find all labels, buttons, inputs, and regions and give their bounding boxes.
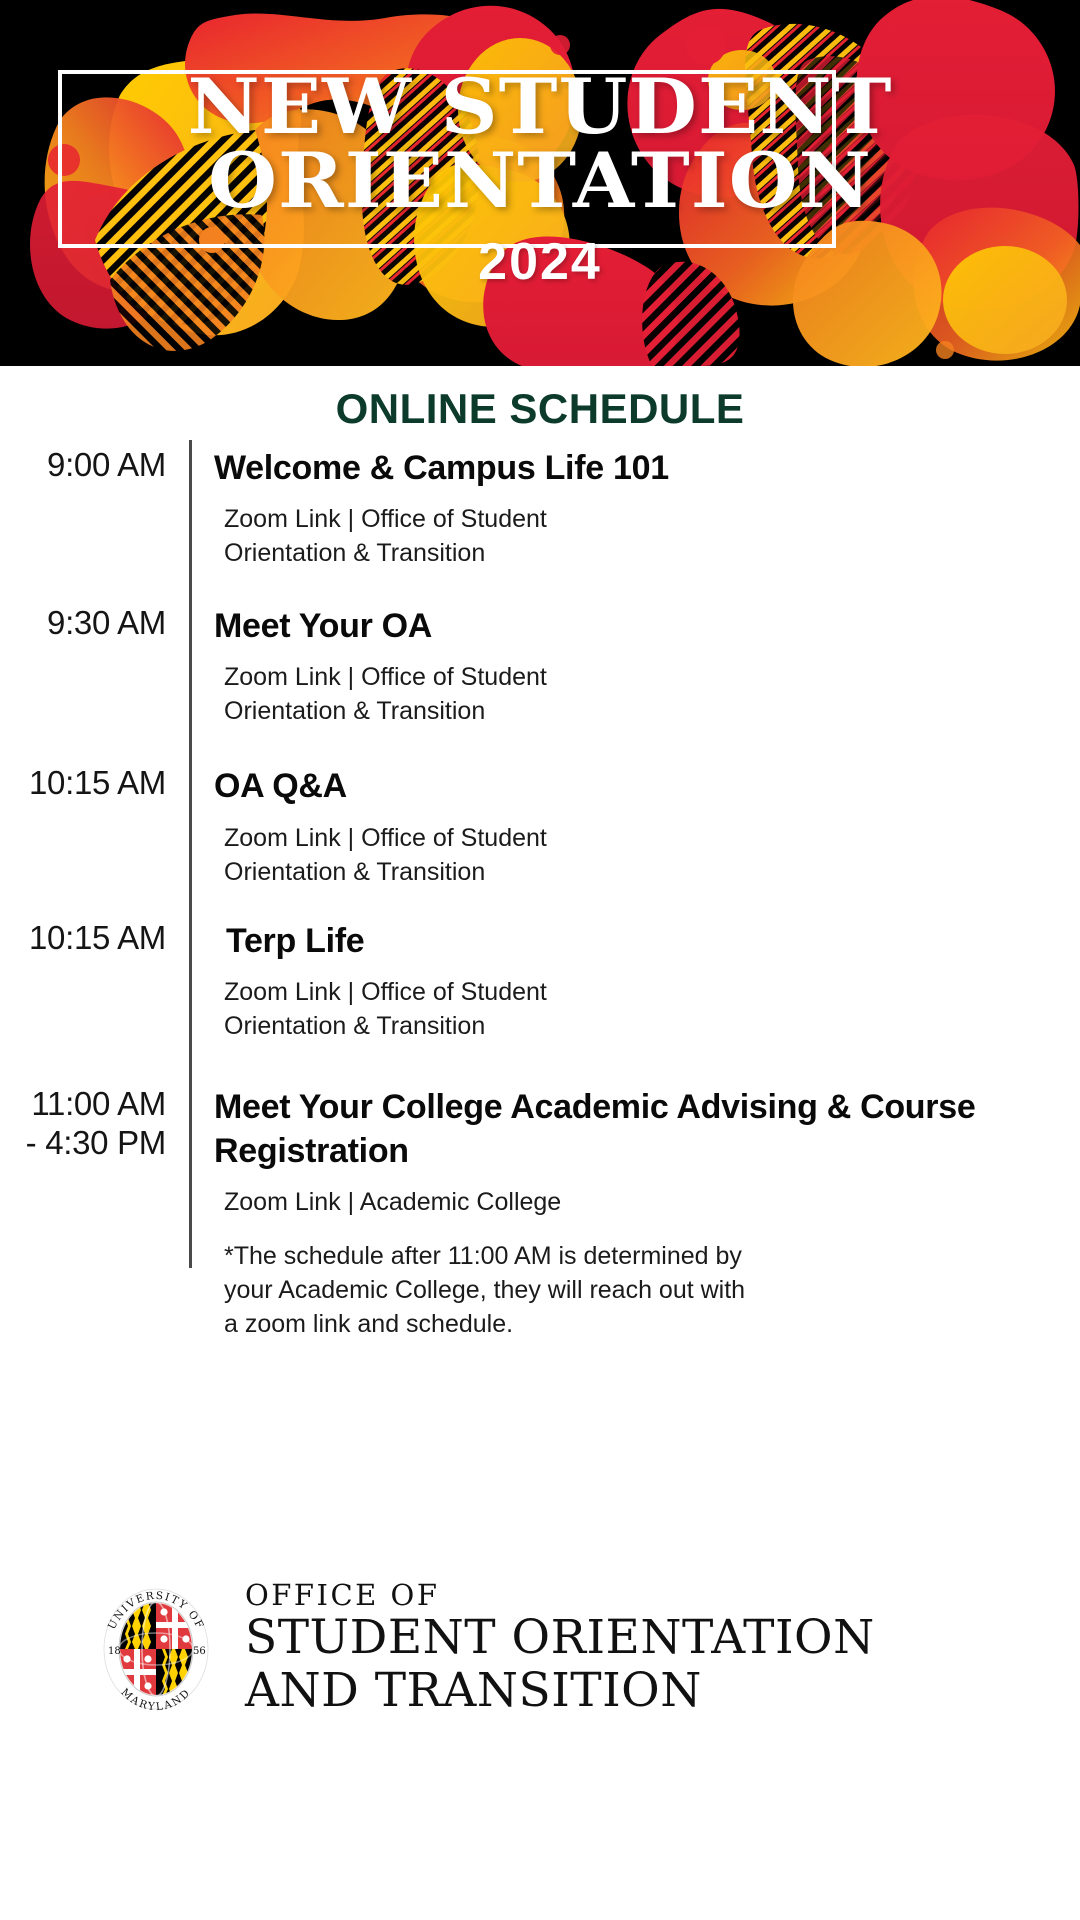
schedule-time-line1: 9:00 AM — [47, 446, 166, 483]
schedule-time: 11:00 AM - 4:30 PM — [0, 1085, 178, 1163]
schedule-entry: Meet Your OA Zoom Link | Office of Stude… — [178, 604, 1080, 728]
banner-decorative-artwork — [0, 0, 1080, 366]
schedule-time: 10:15 AM — [0, 764, 178, 803]
schedule-time: 10:15 AM — [0, 919, 178, 958]
schedule-entry: Welcome & Campus Life 101 Zoom Link | Of… — [178, 446, 1080, 570]
umd-seal-icon: UNIVERSITY OF MARYLAND 18 56 — [97, 1586, 215, 1712]
schedule-row: 9:00 AM Welcome & Campus Life 101 Zoom L… — [0, 440, 1080, 570]
seal-year-left: 18 — [108, 1646, 121, 1657]
schedule-row: 11:00 AM - 4:30 PM Meet Your College Aca… — [0, 1043, 1080, 1341]
schedule-list: 9:00 AM Welcome & Campus Life 101 Zoom L… — [0, 440, 1080, 1341]
schedule-entry: Meet Your College Academic Advising & Co… — [178, 1085, 1080, 1341]
schedule-event-title: Meet Your College Academic Advising & Co… — [214, 1085, 1080, 1173]
schedule-time-line1: 11:00 AM — [31, 1085, 166, 1122]
schedule-entry: Terp Life Zoom Link | Office of Student … — [178, 919, 1080, 1043]
schedule-time: 9:30 AM — [0, 604, 178, 643]
schedule-time-line1: 10:15 AM — [29, 764, 166, 801]
schedule-time: 9:00 AM — [0, 446, 178, 485]
schedule-event-title: OA Q&A — [214, 764, 1080, 808]
schedule-row: 9:30 AM Meet Your OA Zoom Link | Office … — [0, 570, 1080, 728]
schedule-event-title: Terp Life — [214, 919, 1080, 963]
seal-year-right: 56 — [193, 1646, 206, 1657]
header-banner: NEW STUDENT ORIENTATION 2024 — [0, 0, 1080, 366]
page-title: ONLINE SCHEDULE — [0, 385, 1080, 433]
schedule-event-title: Welcome & Campus Life 101 — [214, 446, 1080, 490]
schedule-footnote: *The schedule after 11:00 AM is determin… — [214, 1239, 754, 1341]
schedule-row: 10:15 AM OA Q&A Zoom Link | Office of St… — [0, 728, 1080, 888]
schedule-entry: OA Q&A Zoom Link | Office of Student Ori… — [178, 764, 1080, 888]
schedule-time-line1: 9:30 AM — [47, 604, 166, 641]
schedule-time-line2: - 4:30 PM — [0, 1124, 166, 1163]
footer-line-student-orientation: STUDENT ORIENTATION — [245, 1612, 875, 1665]
schedule-event-subtitle[interactable]: Zoom Link | Academic College — [214, 1185, 734, 1219]
schedule-event-subtitle[interactable]: Zoom Link | Office of Student Orientatio… — [214, 821, 634, 889]
schedule-event-subtitle[interactable]: Zoom Link | Office of Student Orientatio… — [214, 975, 634, 1043]
footer-logo-lockup: UNIVERSITY OF MARYLAND 18 56 OFFICE OF S… — [0, 1580, 1080, 1717]
footer-line-office-of: OFFICE OF — [245, 1580, 875, 1612]
schedule-event-subtitle[interactable]: Zoom Link | Office of Student Orientatio… — [214, 502, 634, 570]
footer-line-and-transition: AND TRANSITION — [245, 1665, 875, 1718]
schedule-event-title: Meet Your OA — [214, 604, 1080, 648]
schedule-time-line1: 10:15 AM — [29, 919, 166, 956]
schedule-row: 10:15 AM Terp Life Zoom Link | Office of… — [0, 889, 1080, 1043]
footer-wordmark: OFFICE OF STUDENT ORIENTATION AND TRANSI… — [245, 1580, 875, 1717]
schedule-event-subtitle[interactable]: Zoom Link | Office of Student Orientatio… — [214, 660, 634, 728]
